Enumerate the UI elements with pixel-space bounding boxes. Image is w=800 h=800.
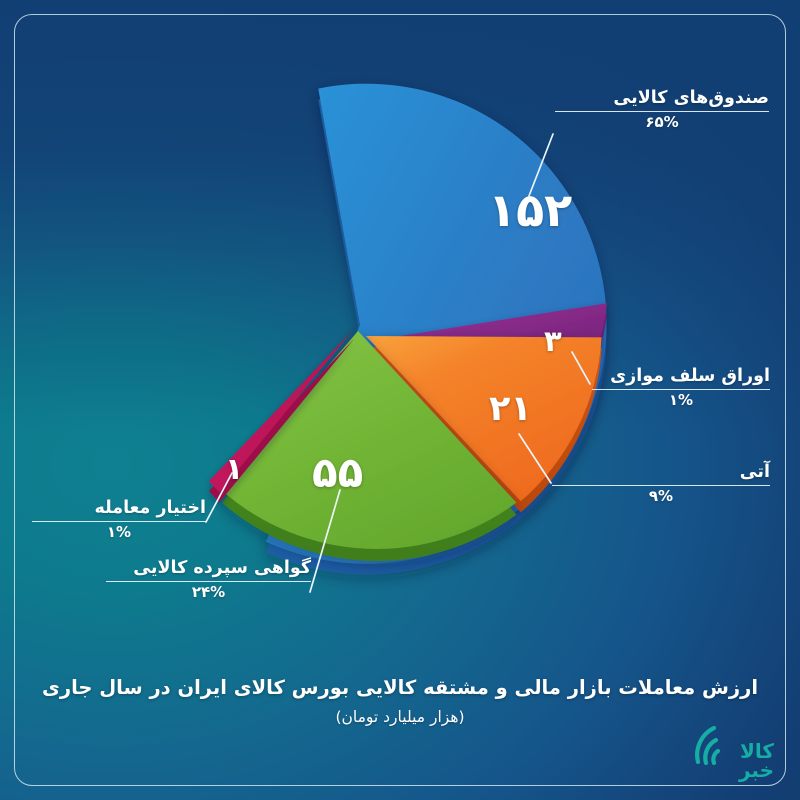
slice-value-futures: ۲۱ — [489, 392, 532, 427]
watermark-text: کالا خبر — [739, 742, 774, 780]
slice-value-commodity-deposit: ۵۵ — [312, 452, 363, 494]
callout-options[interactable]: اختیار معامله ۱% — [32, 498, 206, 541]
callout-commodity-deposit[interactable]: گواهی سپرده کالایی ۲۴% — [106, 558, 311, 601]
callout-futures[interactable]: آتی ۹% — [552, 462, 770, 505]
callout-percent-futures: ۹% — [552, 488, 770, 505]
watermark-line-2: خبر — [739, 758, 774, 782]
callout-label-commodity-funds: صندوق‌های کالایی — [555, 88, 769, 108]
callout-percent-commodity-funds: ۶۵% — [555, 114, 769, 131]
callout-percent-parallel-salaf: ۱% — [592, 392, 770, 409]
callout-parallel-salaf[interactable]: اوراق سلف موازی ۱% — [592, 366, 770, 409]
callout-rule — [555, 111, 769, 112]
infographic-canvas: ۱۵۲ ۳ ۲۱ ۵۵ ۱ صندوق‌های کالایی ۶۵% اوراق… — [0, 0, 800, 800]
callout-rule — [592, 389, 770, 390]
callout-label-parallel-salaf: اوراق سلف موازی — [592, 366, 770, 386]
callout-rule — [552, 485, 770, 486]
callout-rule — [106, 581, 311, 582]
chart-title: ارزش معاملات بازار مالی و مشتقه کالایی ب… — [0, 676, 800, 699]
callout-label-options: اختیار معامله — [32, 498, 206, 518]
slice-value-options: ۱ — [225, 455, 243, 485]
callout-label-futures: آتی — [552, 462, 770, 482]
callout-percent-options: ۱% — [32, 524, 206, 541]
slice-value-commodity-funds: ۱۵۲ — [488, 187, 572, 233]
watermark-logo: کالا خبر — [670, 718, 778, 784]
callout-rule — [32, 521, 206, 522]
callout-percent-commodity-deposit: ۲۴% — [106, 584, 311, 601]
callout-label-commodity-deposit: گواهی سپرده کالایی — [106, 558, 311, 578]
slice-value-parallel-salaf: ۳ — [544, 327, 562, 356]
callout-commodity-funds[interactable]: صندوق‌های کالایی ۶۵% — [555, 88, 769, 131]
